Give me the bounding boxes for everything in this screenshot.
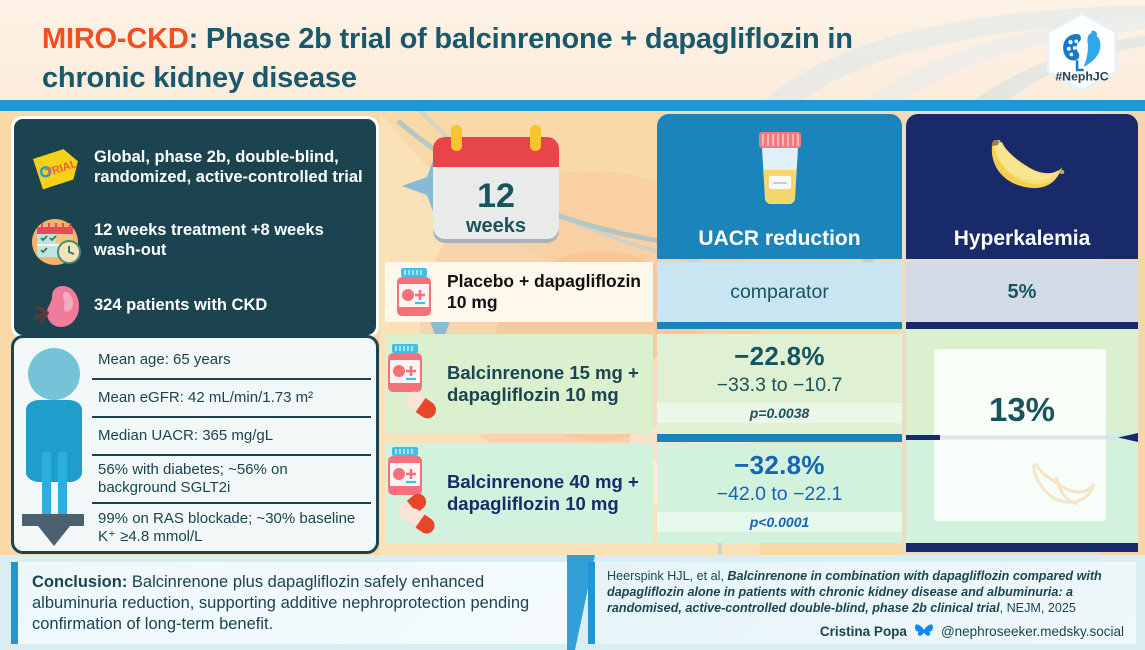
- uacr-value: −22.8%: [657, 334, 902, 372]
- citation-panel: Heerspink HJL, et al, Balcinrenone in co…: [588, 562, 1136, 644]
- conclusion-label: Conclusion:: [32, 573, 127, 591]
- uacr-confidence-interval: −33.3 to −10.7: [657, 372, 902, 397]
- header: MIRO-CKD: Phase 2b trial of balcinrenone…: [0, 0, 1145, 100]
- duration-cell: 12 weeks: [385, 111, 653, 259]
- page-title: MIRO-CKD: Phase 2b trial of balcinrenone…: [42, 20, 862, 97]
- arm-label: Placebo + dapagliflozin 10 mg: [443, 271, 653, 312]
- hyperkalemia-bottom-border: [906, 543, 1138, 552]
- design-item: 12 weeks treatment +8 weeks wash-out: [26, 210, 366, 272]
- arm-label: Balcinrenone 15 mg + dapagliflozin 10 mg: [443, 362, 653, 406]
- uacr-cell: −22.8% −33.3 to −10.7 p=0.0038: [657, 334, 902, 434]
- bluesky-butterfly-icon[interactable]: [913, 622, 935, 640]
- list-item: Mean eGFR: 42 mL/min/1.73 m²: [92, 380, 371, 418]
- hyperkalemia-row-divider: [906, 322, 1138, 329]
- citation-text: Heerspink HJL, et al, Balcinrenone in co…: [607, 569, 1128, 617]
- patient-characteristics-panel: Mean age: 65 years Mean eGFR: 42 mL/min/…: [11, 335, 379, 554]
- list-item: 56% with diabetes; ~56% on background SG…: [92, 456, 371, 504]
- list-item: Median UACR: 365 mg/gL: [92, 418, 371, 456]
- conclusion-panel: Conclusion: Balcinrenone plus dapagliflo…: [11, 562, 571, 644]
- design-item-label: 324 patients with CKD: [88, 296, 267, 316]
- pill-bottle-icon: [385, 262, 443, 322]
- uacr-cell: comparator: [657, 262, 902, 322]
- infographic-root: MIRO-CKD: Phase 2b trial of balcinrenone…: [0, 0, 1145, 650]
- patient-figure-icon: [18, 342, 92, 553]
- title-accent: MIRO-CKD: [42, 23, 189, 55]
- uacr-treatment-divider: [657, 434, 902, 442]
- table-row: Balcinrenone 40 mg + dapagliflozin 10 mg: [385, 443, 653, 543]
- column-label-hyperkalemia: Hyperkalemia: [906, 227, 1138, 251]
- design-item: TRIAL Global, phase 2b, double-blind, ra…: [26, 131, 366, 205]
- credit: Cristina Popa @nephroseeker.medsky.socia…: [820, 622, 1124, 640]
- design-item-label: Global, phase 2b, double-blind, randomiz…: [88, 148, 366, 188]
- duration-unit: weeks: [465, 215, 526, 237]
- citation-journal: , NEJM, 2025: [1000, 601, 1076, 615]
- list-item: 99% on RAS blockade; ~30% baseline K⁺ ≥4…: [92, 504, 371, 552]
- hyperkalemia-arrow: [906, 433, 1138, 442]
- column-label-uacr: UACR reduction: [657, 227, 902, 251]
- logo-label: #NephJC: [1055, 70, 1108, 84]
- trial-tag-icon: TRIAL: [26, 142, 88, 194]
- uacr-value: −32.8%: [657, 443, 902, 481]
- credit-handle: @nephroseeker.medsky.social: [941, 624, 1124, 639]
- uacr-p-value: p<0.0001: [657, 512, 902, 532]
- table-row: Placebo + dapagliflozin 10 mg: [385, 262, 653, 322]
- uacr-row-divider: [657, 322, 902, 329]
- pill-bottle-capsules-icon: [385, 443, 443, 543]
- uacr-value: comparator: [730, 281, 829, 304]
- uacr-p-value: p=0.0038: [657, 403, 902, 423]
- design-item-label: 12 weeks treatment +8 weeks wash-out: [88, 221, 366, 261]
- urine-cup-icon: [657, 122, 902, 216]
- table-row: Balcinrenone 15 mg + dapagliflozin 10 mg: [385, 334, 653, 434]
- header-divider-band: [0, 100, 1145, 111]
- duration-value: 12: [477, 177, 515, 215]
- patient-characteristics-list: Mean age: 65 years Mean eGFR: 42 mL/min/…: [92, 342, 371, 549]
- hyperkalemia-value: 5%: [1008, 281, 1037, 304]
- pill-bottle-capsule-icon: [385, 334, 443, 434]
- citation-authors: Heerspink HJL, et al,: [607, 569, 727, 583]
- banana-icon: [906, 122, 1138, 216]
- hyperkalemia-cell: 5%: [906, 262, 1138, 322]
- column-header-hyperkalemia: Hyperkalemia: [906, 114, 1138, 259]
- banana-ghost-icon: [1026, 459, 1098, 517]
- nephjc-logo[interactable]: #NephJC: [1041, 11, 1123, 93]
- uacr-cell: −32.8% −42.0 to −22.1 p<0.0001: [657, 443, 902, 543]
- kidney-icon: [26, 280, 88, 332]
- hyperkalemia-value: 13%: [906, 391, 1138, 429]
- uacr-confidence-interval: −42.0 to −22.1: [657, 481, 902, 506]
- calendar-clock-icon: [26, 215, 88, 267]
- calendar-icon: 12 weeks: [385, 111, 653, 259]
- hyperkalemia-merged-cell: 13%: [906, 329, 1138, 543]
- credit-name: Cristina Popa: [820, 624, 907, 639]
- conclusion-text: Conclusion: Balcinrenone plus dapagliflo…: [32, 572, 561, 635]
- trial-design-panel: TRIAL Global, phase 2b, double-blind, ra…: [11, 116, 379, 338]
- list-item: Mean age: 65 years: [92, 342, 371, 380]
- design-item: 324 patients with CKD: [26, 277, 366, 335]
- arm-label: Balcinrenone 40 mg + dapagliflozin 10 mg: [443, 471, 653, 515]
- column-header-uacr: UACR reduction: [657, 114, 902, 259]
